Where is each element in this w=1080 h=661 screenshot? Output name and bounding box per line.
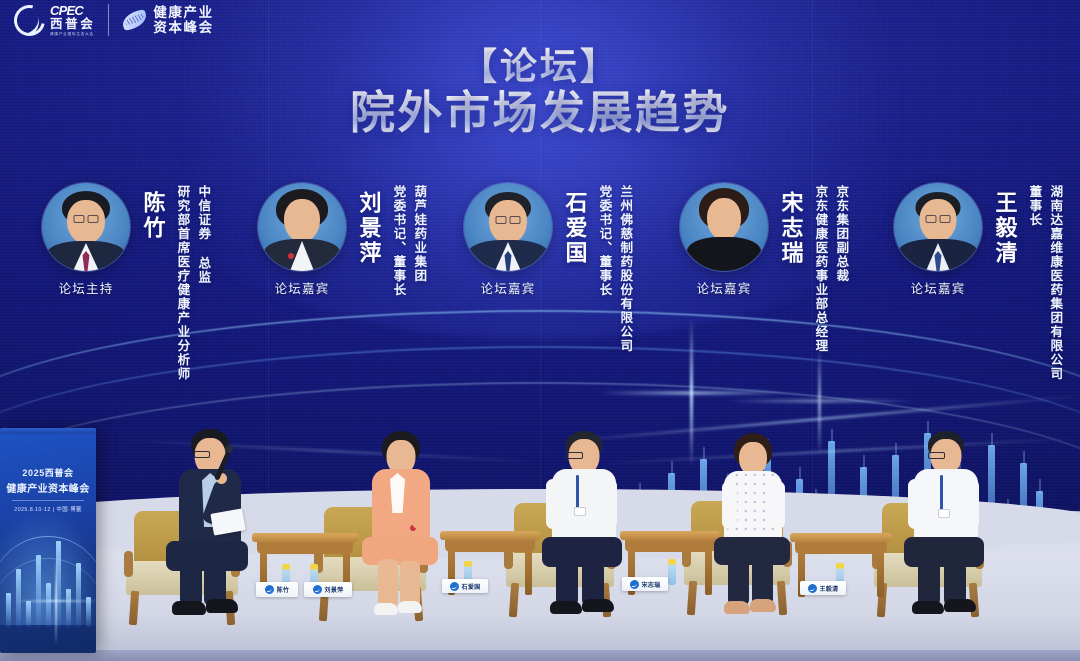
placard-logo-icon — [808, 584, 817, 593]
panelist-title-1-0: 葫芦娃药业集团 — [409, 185, 427, 297]
forum-title-block: 【论坛】 院外市场发展趋势 — [0, 47, 1080, 137]
panelist-name-2: 石爱国 — [562, 191, 588, 266]
forum-title-main: 院外市场发展趋势 — [0, 88, 1080, 138]
panelist-role-1: 论坛嘉宾 — [275, 278, 330, 297]
leaf-icon — [122, 12, 147, 28]
panelist-role-2: 论坛嘉宾 — [481, 278, 536, 297]
podium-line1: 2025西普会 — [0, 466, 96, 479]
panelist-card-3: 论坛嘉宾 宋志瑞 京东集团副总裁 京东健康医药事业部总经理 — [672, 183, 849, 353]
seated-panelist-3 — [700, 433, 806, 621]
podium-starburst — [55, 556, 57, 646]
podium-headline: 2025西普会 健康产业资本峰会 2025.8.10-12 | 中国·博鳌 — [0, 466, 96, 513]
avatar — [464, 183, 552, 271]
panelist-name-4: 王毅清 — [992, 191, 1018, 266]
panelist-title-0-1: 研究部首席医疗健康产业分析师 — [173, 185, 191, 381]
water-bottle — [668, 559, 676, 585]
panelist-card-1: 论坛嘉宾 刘景萍 葫芦娃药业集团 党委书记、董事长 — [250, 183, 427, 297]
panelist-title-1-1: 党委书记、董事长 — [389, 185, 407, 297]
panelist-title-3-0: 京东集团副总裁 — [831, 185, 849, 353]
cpec-logo-subtitle: 健康产业国际生态大会 — [50, 33, 95, 37]
podium-date: 2025.8.10-12 | 中国·博鳌 — [0, 505, 96, 513]
panelist-title-4-1: 董事长 — [1025, 185, 1043, 381]
seated-moderator — [150, 429, 270, 629]
summit-logo: 健康产业 资本峰会 — [122, 5, 213, 35]
placard-name-text-0: 陈竹 — [277, 585, 290, 594]
cpec-logo-en: CPEC — [50, 4, 95, 17]
panelist-name-0: 陈竹 — [140, 191, 166, 241]
placard-name-text-2: 石爱国 — [462, 582, 481, 591]
placard-name-text-1: 刘景萍 — [325, 585, 344, 594]
name-placard-1: 刘景萍 — [304, 582, 352, 597]
stage-floor-edge — [0, 650, 1080, 661]
panelist-name-3: 宋志瑞 — [778, 191, 804, 266]
panelist-title-2-0: 兰州佛慈制药股份有限公司 — [615, 185, 633, 353]
cpec-swoosh-icon — [8, 0, 51, 41]
summit-logo-line1: 健康产业 — [153, 5, 213, 20]
panelist-role-0: 论坛主持 — [59, 278, 114, 297]
cpec-logo-cn: 西普会 — [50, 18, 95, 31]
seated-panelist-2 — [528, 431, 640, 623]
panelist-name-1: 刘景萍 — [356, 191, 382, 266]
summit-logo-line2: 资本峰会 — [153, 20, 213, 35]
seated-panelist-1 — [346, 431, 456, 627]
placard-name-text-4: 王毅清 — [820, 584, 839, 593]
avatar — [894, 183, 982, 271]
panelist-card-0: 论坛主持 陈竹 中信证券 总监 研究部首席医疗健康产业分析师 — [34, 183, 211, 381]
panelist-role-3: 论坛嘉宾 — [697, 278, 752, 297]
avatar — [42, 183, 130, 271]
avatar — [680, 183, 768, 271]
panelist-title-4-0: 湖南达嘉维康医药集团有限公司 — [1045, 185, 1063, 381]
name-placard-4: 王毅清 — [800, 581, 846, 595]
panelist-card-4: 论坛嘉宾 王毅清 湖南达嘉维康医药集团有限公司 董事长 — [886, 183, 1063, 381]
avatar — [258, 183, 346, 271]
logo-divider — [108, 4, 109, 36]
panelist-card-2: 论坛嘉宾 石爱国 兰州佛慈制药股份有限公司 党委书记、董事长 — [456, 183, 633, 353]
panelist-card-row: 论坛主持 陈竹 中信证券 总监 研究部首席医疗健康产业分析师 论坛嘉宾 刘景萍 — [0, 183, 1080, 433]
microphone-head — [225, 445, 233, 453]
cpec-logo: CPEC 西普会 健康产业国际生态大会 — [14, 4, 95, 36]
panelist-title-0-0: 中信证券 总监 — [193, 185, 211, 381]
podium-line2: 健康产业资本峰会 — [0, 480, 96, 495]
event-logo-bar: CPEC 西普会 健康产业国际生态大会 健康产业 资本峰会 — [14, 4, 214, 36]
panelist-role-4: 论坛嘉宾 — [911, 278, 966, 297]
placard-name-text-3: 宋志瑞 — [642, 580, 661, 589]
forum-title-bracket-line: 【论坛】 — [0, 47, 1080, 87]
panelist-title-3-1: 京东健康医药事业部总经理 — [811, 185, 829, 353]
seated-panelist-4 — [890, 431, 1002, 623]
panelist-title-2-1: 党委书记、董事长 — [595, 185, 613, 353]
podium-rule — [12, 500, 83, 501]
podium-banner: 2025西普会 健康产业资本峰会 2025.8.10-12 | 中国·博鳌 — [0, 428, 96, 653]
conference-stage-photo: CPEC 西普会 健康产业国际生态大会 健康产业 资本峰会 【论坛】 院外市场发… — [0, 0, 1080, 661]
placard-logo-icon — [313, 585, 322, 594]
